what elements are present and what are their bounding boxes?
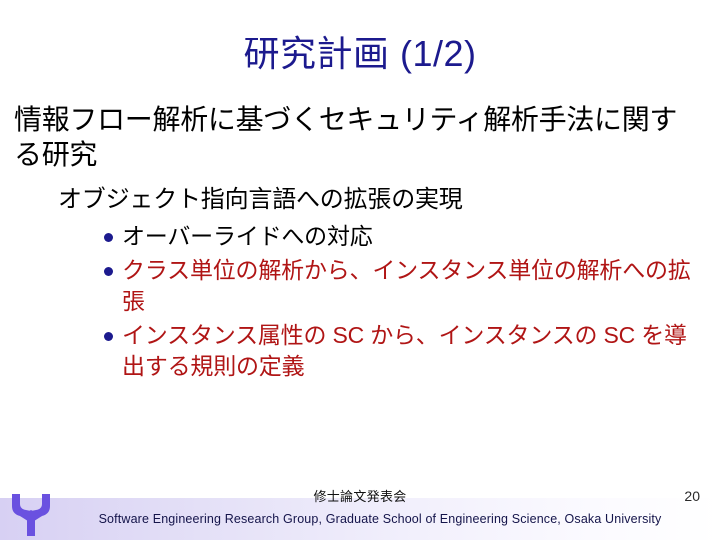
- outline-level3-list: オーバーライドへの対応 クラス単位の解析から、インスタンス単位の解析への拡張 イ…: [0, 221, 720, 382]
- footer-page-number: 20: [600, 488, 700, 505]
- outline-level2-item: オブジェクト指向言語への拡張の実現: [0, 184, 720, 215]
- footer-affiliation: Software Engineering Research Group, Gra…: [0, 511, 712, 527]
- page-title: 研究計画 (1/2): [0, 32, 720, 76]
- bullet-dot-icon: [104, 267, 113, 276]
- bullet-dot-icon: [104, 233, 113, 242]
- presentation-slide: 研究計画 (1/2) 情報フロー解析に基づくセキュリティ解析手法に関する研究 オ…: [0, 0, 720, 540]
- bullet-dot-icon: [104, 332, 113, 341]
- slide-body-outline: 情報フロー解析に基づくセキュリティ解析手法に関する研究 オブジェクト指向言語への…: [0, 102, 720, 385]
- list-item: クラス単位の解析から、インスタンス単位の解析への拡張: [0, 255, 720, 317]
- list-item-label: インスタンス属性の SC から、インスタンスの SC を導出する規則の定義: [122, 322, 687, 379]
- list-item: インスタンス属性の SC から、インスタンスの SC を導出する規則の定義: [0, 320, 720, 382]
- outline-level1-item: 情報フロー解析に基づくセキュリティ解析手法に関する研究: [0, 102, 720, 172]
- list-item-label: クラス単位の解析から、インスタンス単位の解析への拡張: [122, 257, 691, 314]
- list-item-label: オーバーライドへの対応: [122, 223, 373, 249]
- list-item: オーバーライドへの対応: [0, 221, 720, 252]
